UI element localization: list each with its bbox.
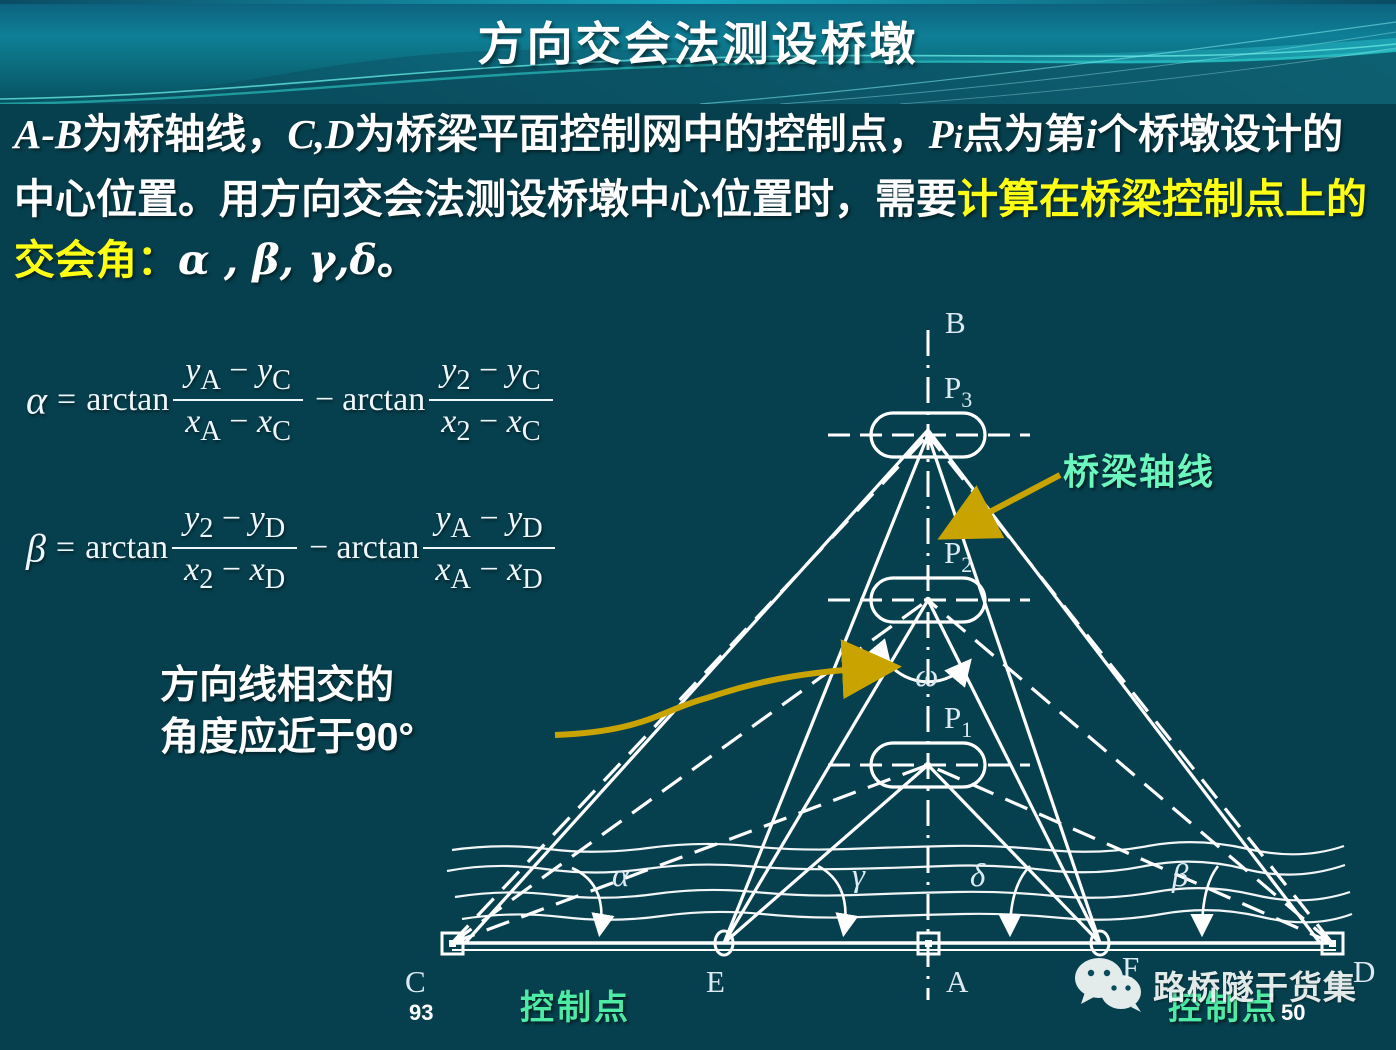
- callout-bridge-axis-label: 桥梁轴线: [1063, 443, 1215, 495]
- op-minus: −: [479, 551, 498, 588]
- var-sub2: D: [522, 513, 542, 544]
- text-greek-delta: δ: [350, 236, 377, 284]
- op-minus: −: [479, 352, 498, 389]
- var-sub2: C: [522, 365, 541, 396]
- label-point-P3: P3: [944, 370, 972, 412]
- text-line1d: 为桥梁平面控制网中的控制点，: [355, 111, 929, 157]
- op-minus: −: [222, 551, 241, 588]
- formula-alpha-eq: =: [47, 381, 86, 418]
- label-point-C: C: [405, 964, 426, 999]
- text-line1b: 为桥轴线，: [82, 111, 287, 157]
- formula-alpha-lead: α: [26, 377, 47, 422]
- label-point-P2: P2: [944, 535, 972, 577]
- text-line3a: 心位置时，需要: [670, 176, 957, 222]
- var-sub2: C: [522, 416, 541, 447]
- frac-denominator: x2 − xD: [172, 547, 297, 596]
- watermark: 路桥隧干货集: [1073, 956, 1357, 1014]
- formula-beta: β=arctan y2 − yD x2 − xD −arctan yA − yD…: [26, 500, 559, 596]
- angle-arc-gamma: [818, 866, 846, 932]
- omega-callout-arrow: [555, 667, 890, 735]
- pier-symbol-p1: [828, 743, 1030, 787]
- var-sub2: C: [272, 365, 291, 396]
- wechat-icon: [1073, 956, 1147, 1014]
- op-minus: −: [479, 403, 498, 440]
- text-cd: C,D: [287, 111, 354, 157]
- var-y: y: [184, 500, 199, 537]
- formula-beta-frac1: y2 − yD x2 − xD: [172, 500, 297, 596]
- formula-alpha-minus: −: [307, 381, 342, 418]
- formula-beta-lead: β: [26, 525, 46, 570]
- op-minus: −: [479, 500, 498, 537]
- frac-numerator: y2 − yD: [172, 500, 297, 547]
- var-sub: A: [451, 513, 471, 544]
- var-sub2: C: [272, 416, 291, 447]
- formula-beta-minus: −: [301, 529, 336, 566]
- axis-callout-arrow: [948, 475, 1060, 534]
- formula-alpha: α=arctan yA − yC xA − xC −arctan y2 − yC…: [26, 352, 557, 448]
- baseline-control-line: [442, 931, 1343, 955]
- var-y: y: [441, 352, 456, 389]
- frac-denominator: x2 − xC: [429, 399, 552, 448]
- var-sub2: D: [522, 564, 542, 595]
- label-angle-omega: ω: [915, 658, 938, 694]
- var-x: x: [184, 551, 199, 588]
- frac-numerator: yA − yD: [423, 500, 554, 547]
- var-y: y: [435, 500, 450, 537]
- label-point-A: A: [946, 964, 969, 999]
- frac-denominator: xA − xC: [173, 399, 303, 448]
- formula-beta-fn2: arctan: [336, 529, 419, 566]
- op-minus: −: [229, 352, 248, 389]
- var-x2: x: [250, 551, 265, 588]
- text-period: 。: [377, 237, 418, 283]
- var-sub: A: [200, 365, 220, 396]
- text-i-index: i: [1086, 111, 1097, 157]
- body-paragraph: A-B为桥轴线，C,D为桥梁平面控制网中的控制点，Pi点为第i个桥墩设计的中心位…: [14, 104, 1384, 291]
- var-sub: 2: [199, 564, 213, 595]
- page-number-left: 93: [409, 1000, 433, 1026]
- label-angle-gamma: γ: [852, 858, 866, 894]
- pier-symbol-p3: [828, 413, 1030, 457]
- var-sub: 2: [199, 513, 213, 544]
- formula-alpha-frac2: y2 − yC x2 − xC: [429, 352, 552, 448]
- formula-alpha-fn1: arctan: [86, 381, 169, 418]
- var-x: x: [185, 403, 200, 440]
- formula-beta-fn1: arctan: [85, 529, 168, 566]
- river-hatching: [447, 842, 1352, 922]
- envelope-lines: [465, 430, 1320, 943]
- var-sub2: D: [265, 564, 285, 595]
- text-line2a: 为第: [1004, 111, 1086, 157]
- slide-canvas: 方向交会法测设桥墩 A-B为桥轴线，C,D为桥梁平面控制网中的控制点，Pi点为第…: [0, 0, 1396, 1050]
- text-p: P: [929, 111, 954, 157]
- var-y2: y: [250, 500, 265, 537]
- var-y2: y: [257, 352, 272, 389]
- op-minus: −: [229, 403, 248, 440]
- var-sub2: D: [265, 513, 285, 544]
- label-angle-delta: δ: [970, 858, 986, 894]
- angle-arc-beta: [1202, 866, 1218, 932]
- var-sub: A: [451, 564, 471, 595]
- var-x: x: [435, 551, 450, 588]
- label-point-B: B: [945, 305, 966, 340]
- label-angle-alpha: α: [612, 858, 630, 894]
- text-line1g: 点: [963, 111, 1004, 157]
- var-sub: 2: [456, 365, 470, 396]
- text-p-index: i: [954, 120, 963, 156]
- formula-beta-frac2: yA − yD xA − xD: [423, 500, 554, 596]
- var-y: y: [185, 352, 200, 389]
- var-x2: x: [507, 403, 522, 440]
- callout-angle-note-line2: 角度应近于90°: [160, 712, 414, 764]
- angle-arc-alpha: [572, 868, 601, 932]
- var-y2: y: [507, 500, 522, 537]
- label-point-E: E: [706, 964, 725, 999]
- formula-alpha-frac1: yA − yC xA − xC: [173, 352, 303, 448]
- callout-angle-note: 方向线相交的 角度应近于90°: [160, 660, 414, 764]
- label-point-P1: P1: [944, 700, 972, 742]
- label-angle-beta: β: [1171, 858, 1189, 894]
- frac-numerator: yA − yC: [173, 352, 303, 399]
- text-greek-abc: α , β, γ,: [178, 236, 350, 284]
- frac-denominator: xA − xD: [423, 547, 554, 596]
- var-x2: x: [507, 551, 522, 588]
- var-y2: y: [507, 352, 522, 389]
- var-sub: A: [200, 416, 220, 447]
- op-minus: −: [222, 500, 241, 537]
- var-x2: x: [257, 403, 272, 440]
- angle-arc-delta: [1010, 866, 1030, 932]
- formula-alpha-fn2: arctan: [342, 381, 425, 418]
- callout-angle-note-line1: 方向线相交的: [160, 660, 414, 712]
- var-sub: 2: [456, 416, 470, 447]
- text-ab: A-B: [14, 111, 82, 157]
- watermark-text: 路桥隧干货集: [1153, 961, 1357, 1009]
- label-control-point-left: 控制点: [520, 980, 631, 1029]
- var-x: x: [441, 403, 456, 440]
- frac-numerator: y2 − yC: [429, 352, 552, 399]
- page-title: 方向交会法测设桥墩: [0, 8, 1396, 74]
- formula-beta-eq: =: [46, 529, 85, 566]
